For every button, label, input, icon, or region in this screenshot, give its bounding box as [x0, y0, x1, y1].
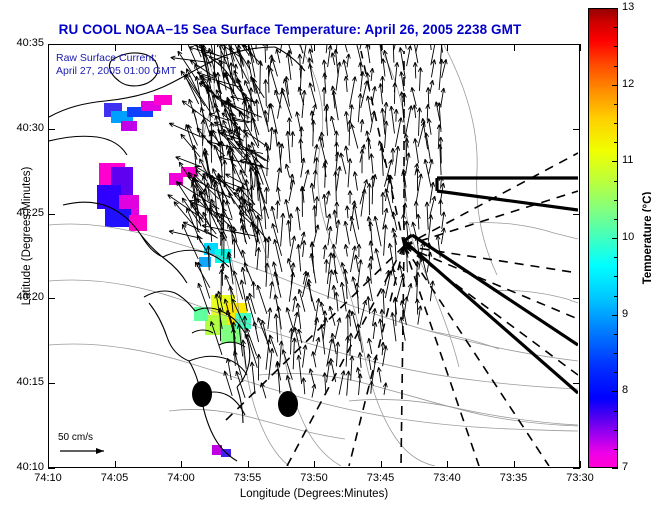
current-vector	[413, 105, 417, 118]
x-tick-label: 73:45	[358, 472, 404, 484]
current-vector	[431, 60, 435, 78]
current-vector	[350, 77, 357, 108]
annotation-line-1: Raw Surface Current:	[56, 52, 157, 64]
current-vector	[427, 242, 431, 258]
colorbar-minor-tick	[614, 46, 618, 47]
current-vector	[236, 371, 245, 398]
current-vector	[293, 296, 297, 312]
current-vector	[309, 369, 314, 384]
current-vector	[229, 193, 240, 209]
colorbar-minor-tick	[614, 161, 618, 162]
current-vector	[278, 91, 284, 119]
current-vector	[329, 306, 335, 326]
sst-pixel-block	[154, 95, 172, 105]
current-vector	[302, 378, 306, 395]
current-vector	[407, 283, 412, 298]
current-vector	[276, 187, 280, 202]
x-tick-mark-top	[314, 44, 315, 51]
current-vector	[370, 68, 374, 81]
current-vector	[441, 212, 445, 229]
current-vector	[227, 151, 235, 174]
current-vector	[261, 383, 266, 399]
current-vector	[344, 244, 348, 256]
map-graphics	[49, 45, 578, 466]
current-vector	[243, 130, 267, 147]
current-vector	[418, 306, 422, 325]
map-plot-area[interactable]	[48, 44, 580, 468]
current-vector	[269, 67, 278, 94]
current-vector	[390, 106, 395, 134]
current-vector	[395, 118, 402, 147]
y-tick-mark-right	[573, 298, 580, 299]
current-vector	[336, 220, 340, 245]
current-vector	[285, 164, 289, 177]
current-vector	[417, 108, 421, 136]
colorbar-minor-tick	[614, 181, 618, 182]
x-tick-label: 73:55	[225, 472, 271, 484]
current-vector	[391, 312, 396, 341]
current-vector	[269, 335, 277, 357]
sst-pixel-block	[235, 313, 251, 329]
current-vector	[322, 87, 326, 106]
current-vector	[299, 139, 303, 163]
current-vector	[269, 55, 273, 77]
current-vector	[267, 45, 271, 51]
current-vector	[424, 159, 431, 187]
current-vector	[312, 384, 316, 398]
current-vector	[307, 282, 316, 311]
current-vector	[395, 146, 400, 176]
current-vector	[226, 358, 231, 380]
x-tick-mark	[514, 461, 515, 468]
current-vector	[330, 116, 335, 133]
current-vector	[303, 345, 307, 368]
current-vector	[370, 154, 374, 174]
current-vector	[441, 228, 445, 244]
y-tick-mark	[48, 383, 55, 384]
x-tick-mark	[447, 461, 448, 468]
current-vector	[289, 180, 295, 202]
x-tick-mark-top	[580, 44, 581, 51]
current-vector	[323, 194, 327, 217]
right-arrow-icon	[58, 444, 114, 458]
current-vector	[372, 86, 376, 104]
current-vector	[428, 45, 432, 50]
coastline	[49, 47, 305, 461]
x-tick-mark	[181, 461, 182, 468]
current-vector	[332, 285, 336, 299]
current-vector	[311, 120, 315, 146]
x-tick-mark	[381, 461, 382, 468]
current-vector	[192, 109, 200, 136]
current-vector	[416, 45, 424, 53]
current-vector	[295, 45, 303, 53]
current-vector	[416, 214, 420, 229]
current-vector	[333, 210, 337, 228]
current-vector	[301, 232, 306, 247]
x-tick-mark-top	[514, 44, 515, 51]
colorbar-minor-tick	[614, 257, 618, 258]
current-vector	[407, 46, 412, 67]
current-annotation: Raw Surface Current: April 27, 2005 01:0…	[56, 52, 176, 78]
current-vector	[302, 240, 306, 257]
current-vector	[331, 53, 335, 65]
current-vector	[360, 71, 364, 91]
current-vector	[271, 58, 277, 76]
current-vector	[309, 83, 316, 106]
current-vector	[351, 246, 357, 272]
current-vector	[348, 191, 352, 204]
colorbar-minor-tick	[614, 353, 618, 354]
current-vector	[315, 298, 320, 325]
current-vector	[402, 214, 406, 228]
current-vector	[383, 225, 387, 256]
current-vector	[367, 183, 371, 215]
current-vector	[270, 282, 274, 299]
current-vector	[327, 361, 332, 383]
y-tick-mark-right	[573, 129, 580, 130]
current-vector	[335, 142, 339, 161]
x-tick-mark-top	[48, 44, 49, 51]
current-vector	[257, 285, 267, 314]
y-axis-title: Latitude (Degrees:Minutes)	[21, 151, 33, 321]
current-vector	[274, 314, 278, 343]
current-vector	[324, 259, 328, 272]
current-vector	[249, 293, 256, 314]
current-vector	[393, 83, 397, 104]
current-vector	[301, 158, 305, 178]
current-vector	[361, 81, 368, 108]
current-vector	[350, 356, 354, 381]
current-vector	[277, 168, 281, 188]
current-vector	[301, 187, 305, 203]
current-vector	[267, 236, 271, 258]
current-vector	[276, 49, 280, 63]
y-tick-mark-right	[573, 468, 580, 469]
current-vector	[439, 199, 443, 215]
current-vector	[414, 138, 419, 163]
current-vector	[350, 216, 358, 244]
current-vector	[198, 262, 210, 298]
current-vector	[358, 374, 362, 396]
colorbar-minor-tick	[614, 391, 618, 392]
figure-title: RU COOL NOAA−15 Sea Surface Temperature:…	[0, 22, 580, 37]
colorbar-tick-label: 7	[622, 461, 628, 473]
current-vector	[298, 87, 304, 105]
radar-coverage-wedges	[404, 178, 578, 393]
colorbar-minor-tick	[614, 372, 618, 373]
current-vector	[226, 174, 247, 186]
current-vector	[346, 54, 350, 67]
colorbar-minor-tick	[614, 468, 618, 469]
current-vector	[341, 262, 348, 284]
current-vector	[313, 205, 317, 233]
current-vector	[373, 322, 377, 339]
current-vector	[344, 76, 348, 92]
current-vector	[296, 207, 301, 231]
annotation-line-2: April 27, 2005 01:00 GMT	[56, 65, 176, 77]
current-vector	[383, 346, 388, 367]
current-vector	[310, 183, 314, 203]
current-vector	[358, 93, 362, 122]
y-tick-mark	[48, 44, 55, 45]
x-tick-label: 74:05	[92, 472, 138, 484]
current-vector	[372, 356, 378, 383]
current-vector	[299, 127, 303, 149]
colorbar-tick-label: 9	[622, 308, 628, 320]
current-vector	[360, 119, 364, 132]
current-vector	[406, 106, 413, 134]
current-vector	[426, 87, 430, 106]
y-tick-mark-right	[573, 214, 580, 215]
x-tick-mark-top	[181, 44, 182, 51]
current-vector	[324, 160, 328, 188]
radar-site-marker	[278, 391, 298, 417]
current-vector	[416, 174, 422, 204]
current-vector	[384, 121, 388, 148]
current-vector	[428, 215, 432, 242]
x-tick-mark	[48, 461, 49, 468]
x-tick-mark	[115, 461, 116, 468]
current-vector	[348, 158, 352, 187]
current-vector	[303, 170, 309, 192]
current-vector	[303, 45, 309, 64]
current-vector	[323, 163, 327, 177]
current-vector	[297, 355, 302, 384]
current-vector	[357, 244, 361, 257]
current-vector	[287, 220, 291, 246]
current-vector	[411, 87, 416, 106]
current-vector	[345, 206, 349, 219]
x-tick-label: 73:30	[557, 472, 603, 484]
current-vector	[441, 88, 446, 108]
y-tick-mark	[48, 298, 55, 299]
colorbar-minor-tick	[614, 276, 618, 277]
current-vector	[429, 159, 434, 174]
current-vector	[320, 324, 325, 354]
y-tick-label: 40:30	[2, 122, 44, 134]
colorbar-minor-tick	[614, 296, 618, 297]
x-axis-title: Longitude (Degrees:Minutes)	[48, 488, 580, 500]
current-vector	[366, 137, 370, 160]
current-vector	[323, 73, 327, 94]
y-tick-label: 40:10	[2, 461, 44, 473]
x-tick-label: 74:00	[158, 472, 204, 484]
current-vector	[354, 255, 358, 272]
y-tick-label: 40:15	[2, 376, 44, 388]
current-vector	[394, 109, 398, 122]
current-vector	[426, 104, 430, 120]
current-vector	[418, 67, 422, 91]
current-vector	[349, 333, 353, 356]
scale-legend-label: 50 cm/s	[58, 432, 114, 443]
current-vector	[346, 371, 350, 396]
current-vector	[358, 260, 363, 286]
colorbar-minor-tick	[614, 334, 618, 335]
current-vector	[320, 302, 324, 314]
current-vector	[392, 212, 397, 231]
current-vector	[353, 172, 357, 191]
current-vector	[286, 307, 293, 328]
current-vector	[379, 83, 383, 104]
x-tick-mark-top	[381, 44, 382, 51]
current-vector	[302, 90, 306, 118]
colorbar-minor-tick	[614, 238, 618, 239]
colorbar-minor-tick	[614, 315, 618, 316]
current-vector	[350, 105, 354, 122]
colorbar-tick-label: 12	[622, 78, 634, 90]
x-tick-mark-top	[248, 44, 249, 51]
current-vector	[265, 263, 269, 287]
current-vector	[297, 244, 301, 271]
current-vector	[258, 186, 269, 219]
colorbar-tick-label: 13	[622, 1, 634, 13]
colorbar-minor-tick	[614, 411, 618, 412]
current-vector	[209, 132, 213, 163]
current-vector	[351, 124, 358, 149]
colorbar-tick-label: 11	[622, 154, 633, 166]
current-vector	[336, 166, 341, 191]
y-tick-mark-right	[573, 383, 580, 384]
current-vector	[255, 99, 259, 121]
current-vector	[237, 49, 251, 71]
x-tick-label: 74:10	[25, 472, 71, 484]
sst-pixel-block	[97, 185, 121, 209]
current-vector-field	[168, 45, 447, 398]
current-vector	[377, 367, 381, 382]
current-vector	[339, 371, 345, 395]
colorbar-minor-tick	[614, 104, 618, 105]
current-vector	[281, 213, 285, 246]
current-vector	[393, 233, 397, 261]
current-vector	[436, 235, 440, 258]
current-vector	[415, 299, 419, 315]
sst-current-figure: RU COOL NOAA−15 Sea Surface Temperature:…	[0, 0, 651, 515]
x-tick-mark	[580, 461, 581, 468]
y-tick-mark	[48, 129, 55, 130]
current-vector	[323, 245, 327, 259]
current-vector	[291, 131, 295, 147]
current-vector	[360, 144, 365, 162]
colorbar-minor-tick	[614, 123, 618, 124]
current-vector	[381, 59, 385, 77]
current-vector	[389, 175, 393, 203]
current-vector	[314, 225, 319, 243]
current-vector	[427, 119, 431, 135]
colorbar-minor-tick	[614, 200, 618, 201]
current-vector	[268, 308, 272, 329]
current-vector	[334, 270, 338, 283]
y-tick-mark	[48, 468, 55, 469]
current-vector	[425, 202, 429, 230]
colorbar-minor-tick	[614, 85, 618, 86]
current-vector	[286, 131, 290, 163]
current-vector	[335, 318, 341, 339]
colorbar-minor-tick	[614, 142, 618, 143]
current-vector	[404, 297, 408, 314]
colorbar-minor-tick	[614, 8, 618, 9]
current-vector	[256, 247, 260, 270]
radial-bearing-lines	[223, 51, 578, 466]
current-vector	[360, 45, 364, 50]
current-vector	[368, 338, 372, 354]
current-vector	[292, 338, 296, 370]
colorbar-title: Temperature (°C)	[642, 173, 651, 303]
y-tick-mark	[48, 214, 55, 215]
x-tick-label: 73:35	[491, 472, 537, 484]
current-vector	[253, 322, 259, 343]
current-vector	[285, 199, 290, 218]
current-vector	[366, 45, 370, 63]
current-vector	[374, 216, 381, 246]
current-vector	[344, 221, 350, 245]
current-vector	[413, 62, 417, 78]
current-vector	[343, 60, 348, 78]
y-tick-label: 40:35	[2, 37, 44, 49]
current-vector	[250, 362, 255, 394]
colorbar-tick-label: 10	[622, 231, 634, 243]
current-vector	[344, 146, 348, 161]
current-vector	[406, 153, 411, 175]
current-vector	[358, 352, 362, 368]
colorbar-minor-tick	[614, 219, 618, 220]
current-vector	[286, 53, 291, 80]
radar-site-markers	[192, 381, 298, 417]
x-tick-mark	[314, 461, 315, 468]
current-vector	[261, 320, 270, 353]
current-vector	[274, 129, 278, 146]
current-vector	[335, 292, 339, 311]
colorbar-minor-tick	[614, 449, 618, 450]
current-vector	[430, 80, 434, 94]
current-vector	[323, 317, 327, 340]
current-vector	[375, 248, 381, 271]
x-tick-mark	[248, 461, 249, 468]
current-vector	[342, 45, 347, 52]
x-tick-label: 73:50	[291, 472, 337, 484]
current-vector	[392, 228, 397, 245]
radar-site-marker	[192, 381, 212, 407]
sst-pixel-block	[121, 121, 137, 131]
current-vector	[326, 191, 330, 205]
current-vector	[270, 127, 274, 150]
x-tick-label: 73:40	[424, 472, 470, 484]
current-vector	[379, 319, 383, 340]
y-tick-mark-right	[573, 44, 580, 45]
velocity-scale-legend: 50 cm/s	[58, 432, 114, 461]
x-tick-mark-top	[447, 44, 448, 51]
current-vector	[276, 201, 280, 219]
current-vector	[287, 258, 292, 274]
colorbar-minor-tick	[614, 27, 618, 28]
current-vector	[263, 206, 267, 229]
current-vector	[267, 104, 271, 122]
current-vector	[290, 236, 296, 261]
colorbar-minor-tick	[614, 66, 618, 67]
x-tick-mark-top	[115, 44, 116, 51]
colorbar-tick-label: 8	[622, 384, 628, 396]
current-vector	[330, 358, 336, 382]
current-vector	[345, 111, 349, 132]
colorbar-minor-tick	[614, 430, 618, 431]
current-vector	[360, 179, 368, 204]
current-vector	[402, 45, 406, 49]
current-vector	[264, 79, 268, 106]
